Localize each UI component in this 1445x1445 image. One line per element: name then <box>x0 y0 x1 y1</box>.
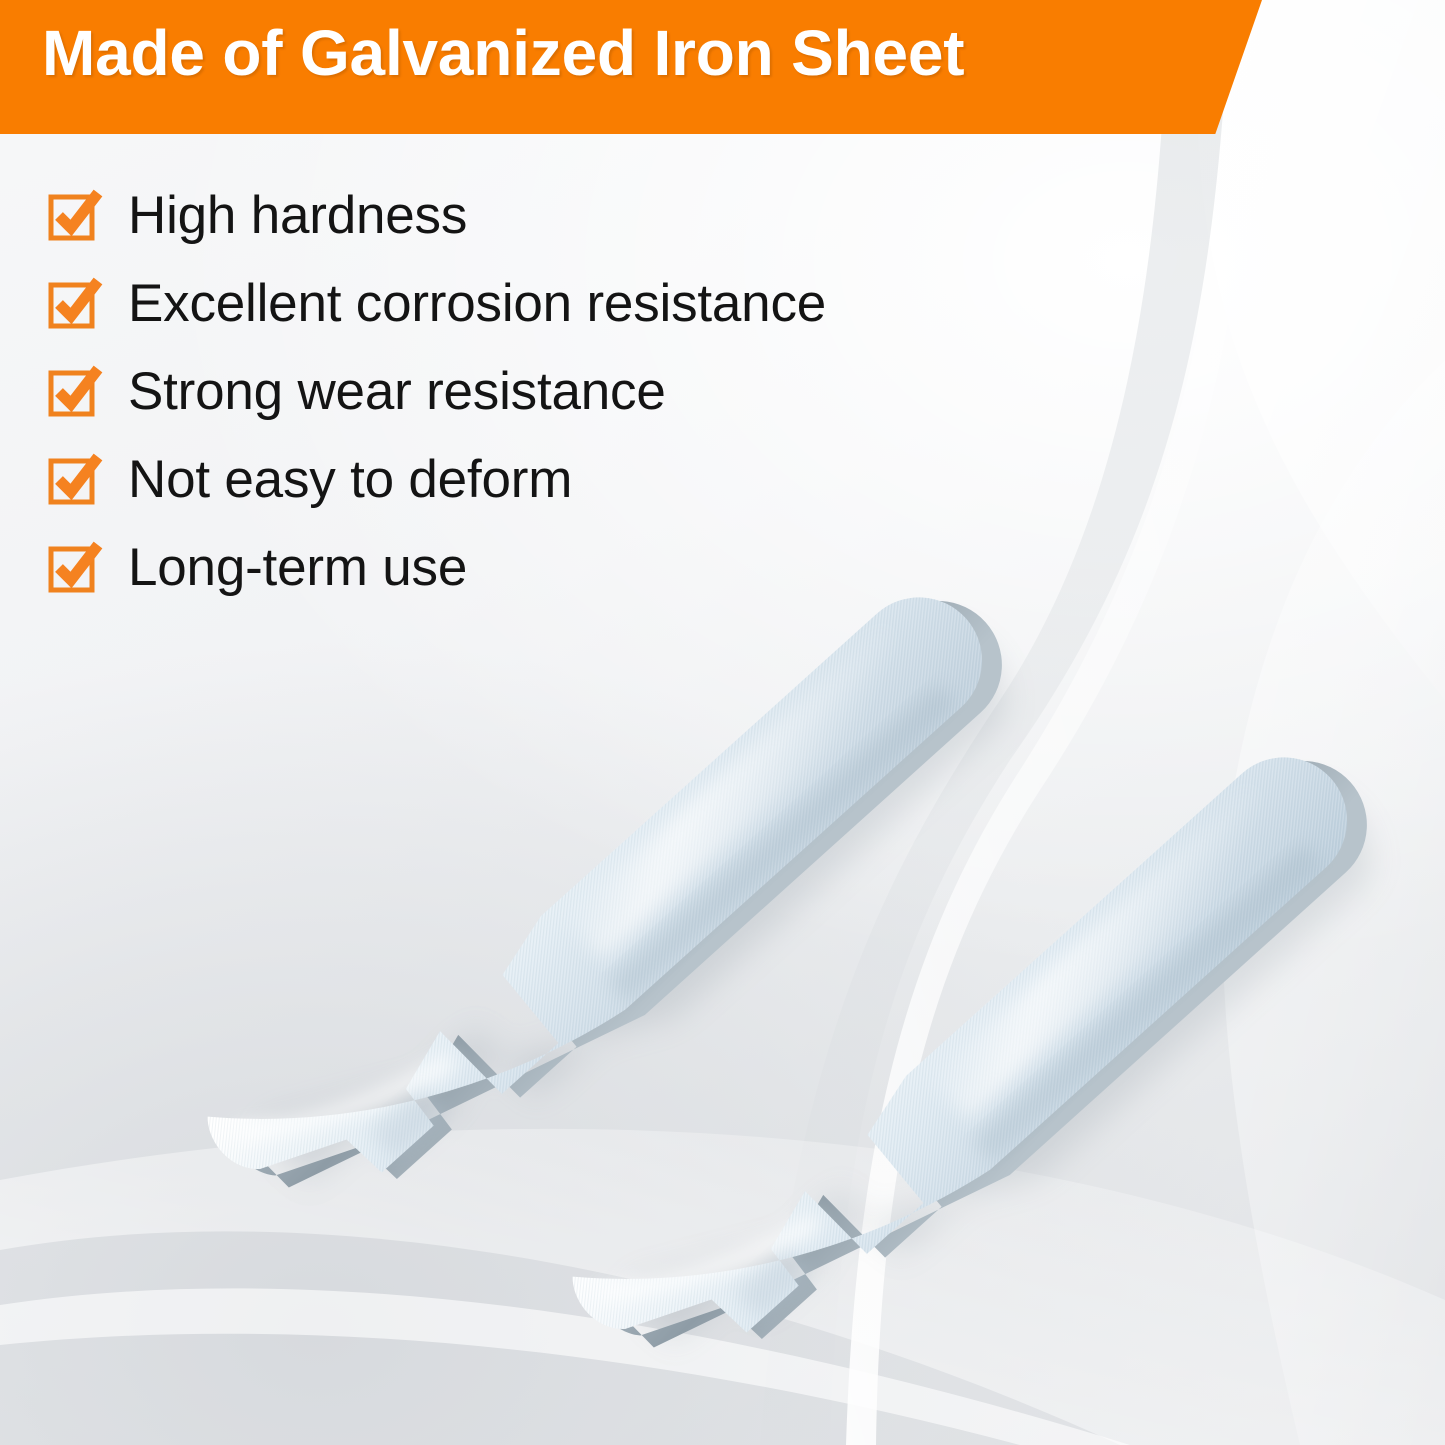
feature-item-strong-wear-resistance: Strong wear resistance <box>48 347 826 435</box>
feature-label: Long-term use <box>128 541 467 594</box>
product-feature-image: Made of Galvanized Iron Sheet High hardn… <box>0 0 1445 1445</box>
feature-label: Excellent corrosion resistance <box>128 277 826 330</box>
feature-item-not-easy-to-deform: Not easy to deform <box>48 435 826 523</box>
page-title: Made of Galvanized Iron Sheet <box>42 21 964 85</box>
checkbox-checked-icon <box>48 189 104 241</box>
feature-label: Not easy to deform <box>128 453 572 506</box>
feature-item-long-term-use: Long-term use <box>48 523 826 611</box>
checkbox-checked-icon <box>48 541 104 593</box>
checkbox-checked-icon <box>48 365 104 417</box>
checkbox-checked-icon <box>48 453 104 505</box>
checkbox-checked-icon <box>48 277 104 329</box>
header-banner: Made of Galvanized Iron Sheet <box>0 0 1262 134</box>
feature-label: Strong wear resistance <box>128 365 666 418</box>
feature-list: High hardness Excellent corrosion resist… <box>48 171 826 611</box>
feature-label: High hardness <box>128 189 467 242</box>
feature-item-high-hardness: High hardness <box>48 171 826 259</box>
feature-item-excellent-corrosion-resistance: Excellent corrosion resistance <box>48 259 826 347</box>
